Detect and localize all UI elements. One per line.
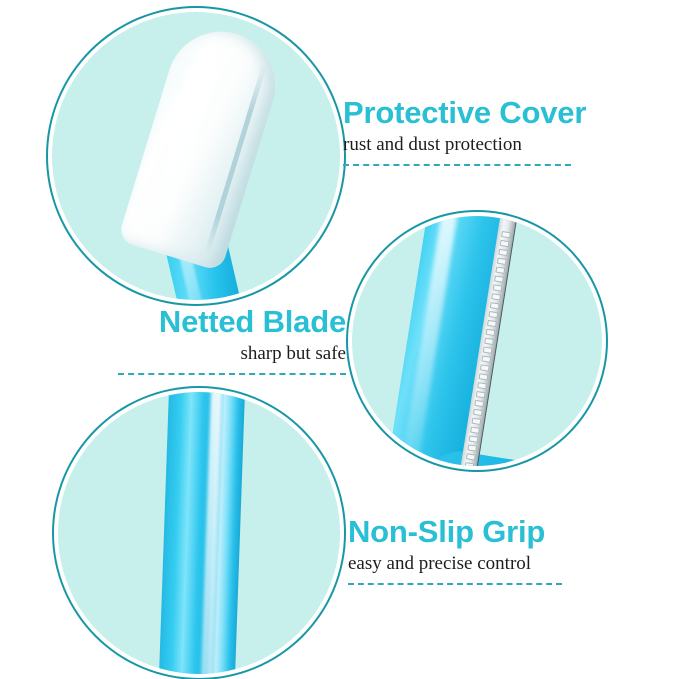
non-slip-grip-artwork <box>58 392 340 674</box>
dashed-underline <box>348 583 562 585</box>
blade-notch <box>492 284 502 291</box>
feature-callout-non-slip-grip: Non-Slip Grip easy and precise control <box>348 515 562 585</box>
blade-notch <box>482 346 492 353</box>
blade-notch <box>491 293 501 300</box>
feature-subtitle: rust and dust protection <box>343 133 571 157</box>
blade-notch <box>472 409 482 416</box>
blade-notch <box>465 453 475 460</box>
blade-notch <box>489 302 499 309</box>
blade-notch <box>467 444 477 451</box>
blade-notch <box>494 275 504 282</box>
blade-notch <box>486 320 496 327</box>
feature-title: Non-Slip Grip <box>348 515 562 549</box>
blade-notch <box>468 435 478 442</box>
blade-notch <box>471 418 481 425</box>
protective-cap-shape <box>117 18 288 271</box>
feature-callout-protective-cover: Protective Cover rust and dust protectio… <box>343 96 571 166</box>
feature-image-netted-blade <box>352 216 602 466</box>
protective-cover-artwork <box>52 12 340 300</box>
blade-notch <box>464 462 474 466</box>
feature-title: Protective Cover <box>343 96 571 130</box>
blade-notch <box>475 391 485 398</box>
feature-callout-netted-blade: Netted Blade sharp but safe <box>118 305 346 375</box>
blade-notch <box>481 355 491 362</box>
blade-notch <box>470 426 480 433</box>
blade-stage <box>352 216 602 466</box>
blade-notch <box>495 266 505 273</box>
blade-notch <box>499 240 509 247</box>
feature-image-protective-cover <box>52 12 340 300</box>
blade-notch <box>496 258 506 265</box>
blade-notch <box>484 338 494 345</box>
blade-notch <box>477 382 487 389</box>
blade-notch <box>478 373 488 380</box>
blade-notch <box>474 400 484 407</box>
feature-title: Netted Blade <box>118 305 346 339</box>
blade-notch <box>498 249 508 256</box>
blade-notch <box>488 311 498 318</box>
feature-subtitle: easy and precise control <box>348 552 562 576</box>
netted-blade-artwork <box>352 216 602 466</box>
infographic-canvas: Protective Cover rust and dust protectio… <box>0 0 679 679</box>
feature-subtitle: sharp but safe <box>118 342 346 366</box>
blade-notch <box>479 364 489 371</box>
blade-notch <box>485 329 495 336</box>
blade-notch <box>501 231 511 238</box>
feature-image-non-slip-grip <box>58 392 340 674</box>
dashed-underline <box>343 164 571 166</box>
dashed-underline <box>118 373 346 375</box>
